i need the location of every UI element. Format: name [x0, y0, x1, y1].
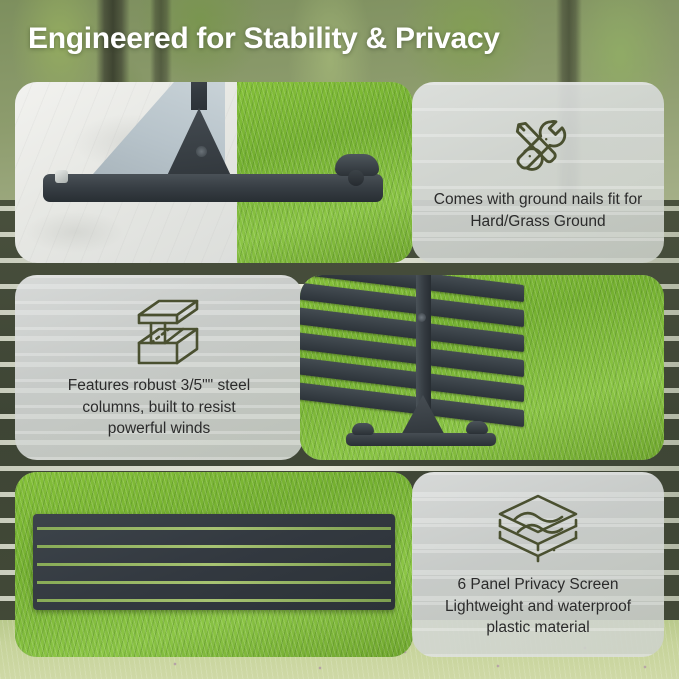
slatted-fence-panel-standing-on-grass-photo	[300, 275, 664, 460]
feature-card-ground-nails: Comes with ground nails fit for Hard/Gra…	[412, 82, 664, 263]
feature-caption: 6 Panel Privacy Screen Lightweight and w…	[431, 574, 645, 638]
layered-sheets-icon	[492, 490, 584, 568]
ground-nail-knob	[466, 421, 488, 434]
base-foot-on-concrete-and-grass-photo	[15, 82, 413, 263]
grass-surface	[237, 82, 413, 263]
base-foot-bar	[43, 174, 383, 202]
six-panel-privacy-screen	[33, 514, 395, 610]
feature-caption: Comes with ground nails fit for Hard/Gra…	[420, 189, 656, 232]
feature-row-ground-nails: Comes with ground nails fit for Hard/Gra…	[15, 82, 664, 263]
feature-caption: Features robust 3/5"" steel columns, bui…	[54, 375, 264, 439]
ground-nail-knob	[352, 423, 374, 435]
feature-row-steel-columns: Features robust 3/5"" steel columns, bui…	[15, 275, 664, 460]
i-beam-icon	[113, 295, 205, 369]
flat-lay-six-slat-panel-on-grass-photo	[15, 472, 413, 657]
feature-card-privacy-screen: 6 Panel Privacy Screen Lightweight and w…	[412, 472, 664, 657]
ground-nail-stem	[348, 170, 364, 186]
feature-card-steel-columns: Features robust 3/5"" steel columns, bui…	[15, 275, 303, 460]
screwdriver-wrench-icon	[503, 113, 573, 183]
screw-head	[196, 146, 207, 157]
fence-post	[191, 82, 207, 110]
feature-row-privacy-screen: 6 Panel Privacy Screen Lightweight and w…	[15, 472, 664, 657]
bolt-head	[55, 170, 68, 183]
screw-head	[417, 313, 426, 322]
steel-column-post	[416, 275, 431, 415]
page-title: Engineered for Stability & Privacy	[28, 22, 500, 56]
